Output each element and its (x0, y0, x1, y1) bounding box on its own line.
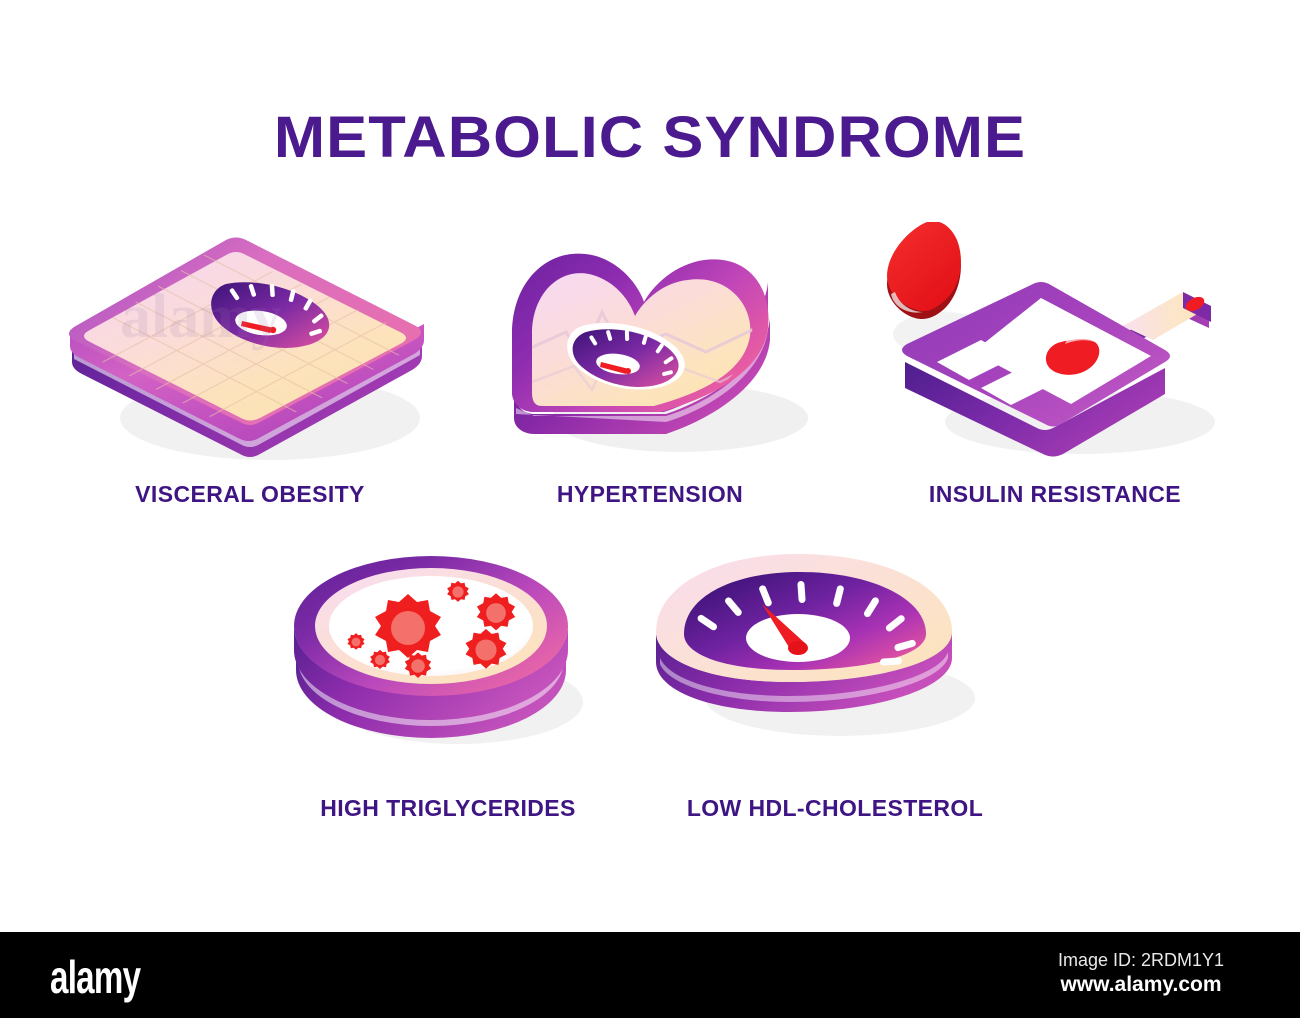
speedometer-art (640, 540, 1030, 765)
label-hypertension: HYPERTENSION (470, 481, 830, 508)
speedometer-icon (640, 540, 1030, 760)
alamy-meta: Image ID: 2RDM1Y1 www.alamy.com (1026, 948, 1256, 998)
item-insulin-resistance: INSULIN RESISTANCE (865, 222, 1245, 508)
alamy-url[interactable]: www.alamy.com (1026, 972, 1256, 998)
page-title: METABOLIC SYNDROME (0, 104, 1300, 171)
petri-dish-icon (278, 540, 618, 760)
glucometer-icon (865, 222, 1245, 462)
weight-scale-art: alamy (60, 222, 440, 467)
label-insulin-resistance: INSULIN RESISTANCE (865, 481, 1245, 508)
blood-drop-icon (887, 222, 961, 319)
item-hypertension: HYPERTENSION (470, 222, 830, 508)
heart-gauge-icon (470, 222, 830, 462)
item-high-triglycerides: HIGH TRIGLYCERIDES (278, 540, 618, 822)
item-low-hdl-cholesterol: LOW HDL-CHOLESTEROL (640, 540, 1030, 822)
alamy-image-id: Image ID: 2RDM1Y1 (1026, 948, 1256, 972)
petri-dish-art (278, 540, 618, 765)
weight-scale-icon: alamy (60, 222, 440, 462)
infographic-canvas: METABOLIC SYNDROME (0, 0, 1300, 1018)
label-visceral-obesity: VISCERAL OBESITY (60, 481, 440, 508)
alamy-watermark-bar: alamy Image ID: 2RDM1Y1 www.alamy.com (0, 932, 1300, 1018)
watermark-text: alamy (120, 283, 282, 351)
label-low-hdl-cholesterol: LOW HDL-CHOLESTEROL (640, 795, 1030, 822)
item-visceral-obesity: alamy VISCERAL OBESITY (60, 222, 440, 508)
label-high-triglycerides: HIGH TRIGLYCERIDES (278, 795, 618, 822)
heart-gauge-art (470, 222, 830, 467)
glucometer-art (865, 222, 1245, 467)
alamy-logo: alamy (50, 950, 140, 1004)
